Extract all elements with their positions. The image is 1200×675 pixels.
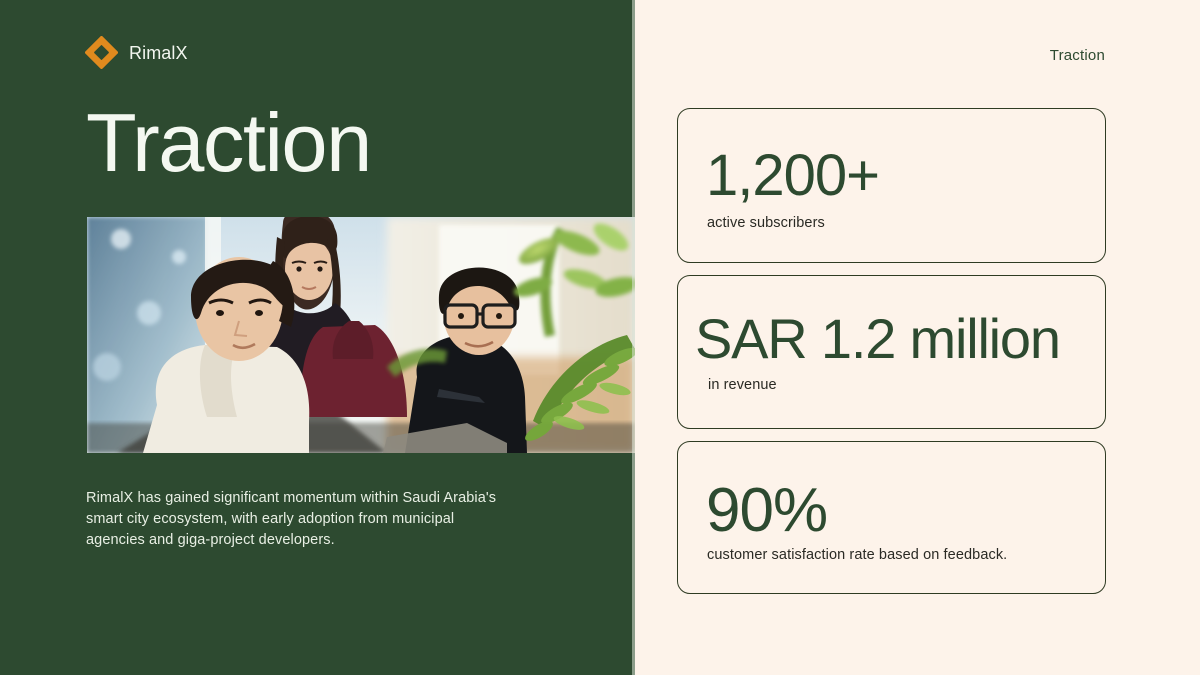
section-label: Traction — [1050, 47, 1105, 64]
diamond-logo-icon — [85, 36, 118, 69]
stat-value: SAR 1.2 million — [695, 311, 1060, 367]
stat-card-list: 1,200+ active subscribers SAR 1.2 millio… — [677, 108, 1106, 594]
slide-traction: RimalX Traction — [0, 0, 1200, 675]
page-title: Traction — [86, 101, 371, 184]
stat-card-satisfaction[interactable]: 90% customer satisfaction rate based on … — [677, 441, 1106, 594]
stat-value: 90% — [706, 480, 827, 542]
body-paragraph: RimalX has gained significant momentum w… — [86, 488, 506, 551]
stat-label: customer satisfaction rate based on feed… — [707, 547, 1007, 564]
stat-value: 1,200+ — [706, 147, 879, 205]
stat-card-revenue[interactable]: SAR 1.2 million in revenue — [677, 275, 1106, 429]
stat-label: active subscribers — [707, 215, 825, 232]
stat-card-subscribers[interactable]: 1,200+ active subscribers — [677, 108, 1106, 263]
right-cream-panel: Traction 1,200+ active subscribers SAR 1… — [635, 0, 1200, 675]
team-photo — [87, 217, 635, 453]
stat-label: in revenue — [708, 377, 777, 394]
left-green-panel: RimalX Traction — [0, 0, 635, 675]
brand-name: RimalX — [129, 44, 188, 62]
brand-logo[interactable]: RimalX — [85, 36, 188, 69]
